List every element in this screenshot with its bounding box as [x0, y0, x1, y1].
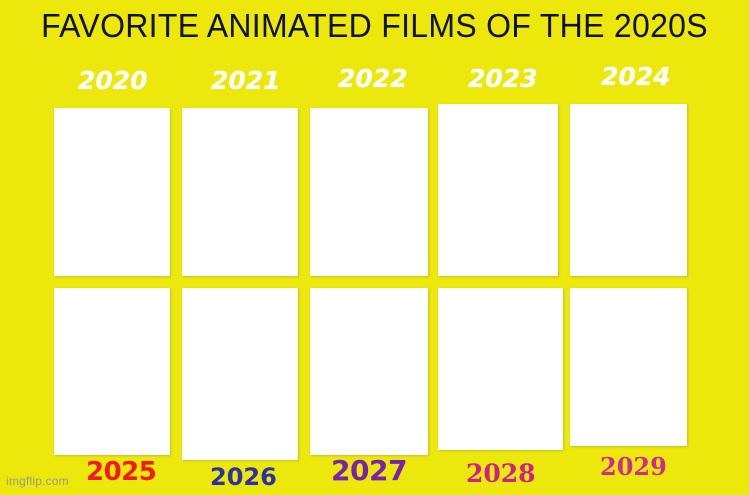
year-label-2027: 2027 — [331, 457, 407, 485]
film-card-2025[interactable] — [54, 288, 170, 455]
film-card-2024[interactable] — [570, 104, 687, 276]
year-label-2026: 2026 — [210, 465, 277, 489]
year-label-2021: 2021 — [211, 68, 281, 93]
film-card-2022[interactable] — [310, 108, 428, 276]
page-title: FAVORITE ANIMATED FILMS OF THE 2020S — [11, 4, 738, 48]
film-card-2020[interactable] — [54, 108, 170, 276]
film-card-2026[interactable] — [182, 288, 298, 460]
year-label-2022: 2022 — [338, 66, 408, 91]
year-label-2024: 2024 — [601, 64, 671, 89]
year-label-2020: 2020 — [78, 68, 148, 93]
film-card-2027[interactable] — [310, 288, 428, 455]
meme-image: FAVORITE ANIMATED FILMS OF THE 2020S 202… — [0, 0, 749, 495]
film-card-2021[interactable] — [182, 108, 298, 276]
year-label-2029: 2029 — [600, 455, 667, 479]
imgflip-watermark: imgflip.com — [6, 474, 69, 488]
year-label-2025: 2025 — [86, 459, 156, 485]
film-card-2028[interactable] — [438, 288, 563, 450]
year-label-2028: 2028 — [466, 461, 536, 486]
film-card-2023[interactable] — [438, 104, 558, 276]
film-card-2029[interactable] — [570, 288, 687, 446]
year-label-2023: 2023 — [468, 66, 538, 91]
